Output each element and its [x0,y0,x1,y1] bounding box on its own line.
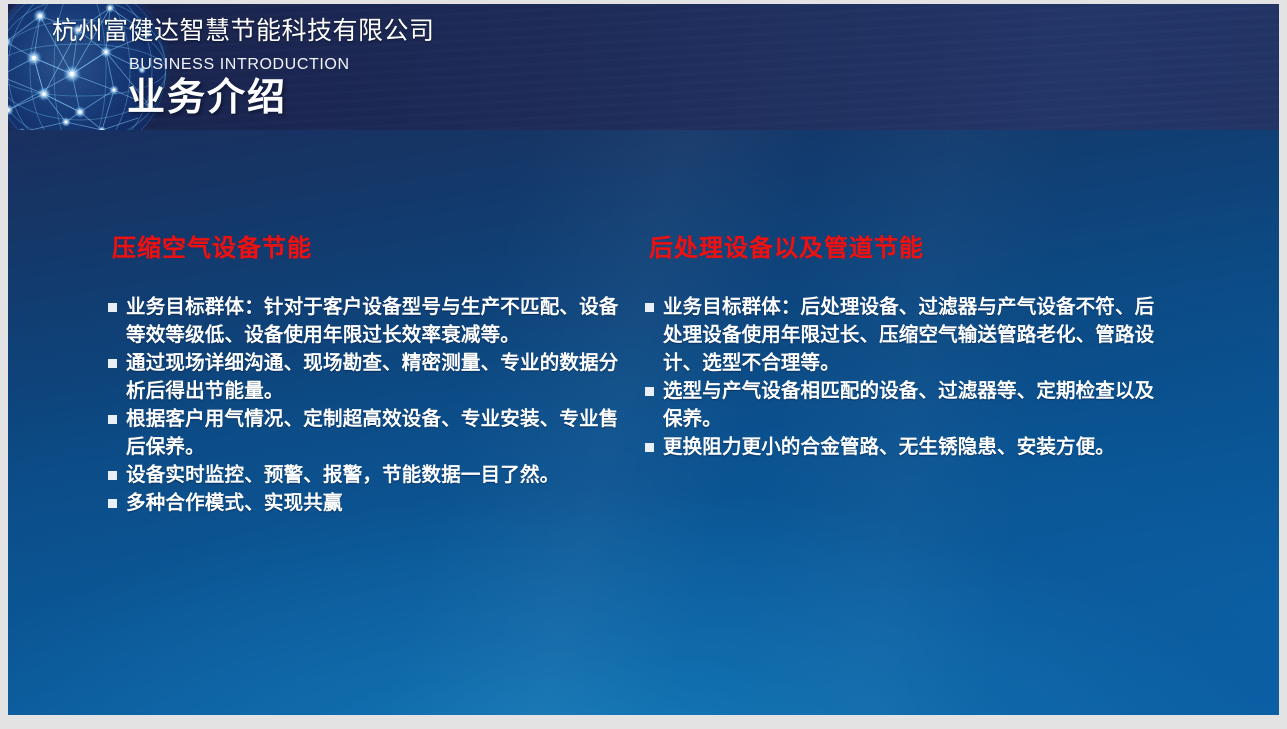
list-item-text: 多种合作模式、实现共赢 [126,489,628,517]
list-item: 根据客户用气情况、定制超高效设备、专业安装、专业售后保养。 [108,405,628,461]
bullet-list-right: 业务目标群体：后处理设备、过滤器与产气设备不符、后处理设备使用年限过长、压缩空气… [645,293,1165,461]
list-item-text: 设备实时监控、预警、报警，节能数据一目了然。 [126,461,628,489]
bullet-square-icon [108,303,117,312]
content-column-left: 压缩空气设备节能 业务目标群体：针对于客户设备型号与生产不匹配、设备等效等级低、… [108,234,628,517]
slide-frame: 杭州富健达智慧节能科技有限公司 BUSINESS INTRODUCTION 业务… [0,0,1287,729]
list-item-text: 更换阻力更小的合金管路、无生锈隐患、安装方便。 [663,433,1165,461]
list-item-text: 业务目标群体：针对于客户设备型号与生产不匹配、设备等效等级低、设备使用年限过长效… [126,293,628,349]
list-item: 更换阻力更小的合金管路、无生锈隐患、安装方便。 [645,433,1165,461]
content-column-right: 后处理设备以及管道节能 业务目标群体：后处理设备、过滤器与产气设备不符、后处理设… [645,234,1165,461]
header-band: 杭州富健达智慧节能科技有限公司 BUSINESS INTRODUCTION 业务… [8,4,1279,130]
list-item: 业务目标群体：后处理设备、过滤器与产气设备不符、后处理设备使用年限过长、压缩空气… [645,293,1165,377]
bullet-square-icon [645,303,654,312]
bullet-square-icon [108,359,117,368]
list-item-text: 根据客户用气情况、定制超高效设备、专业安装、专业售后保养。 [126,405,628,461]
list-item: 业务目标群体：针对于客户设备型号与生产不匹配、设备等效等级低、设备使用年限过长效… [108,293,628,349]
list-item-text: 通过现场详细沟通、现场勘查、精密测量、专业的数据分析后得出节能量。 [126,349,628,405]
bullet-square-icon [645,387,654,396]
list-item: 选型与产气设备相匹配的设备、过滤器等、定期检查以及保养。 [645,377,1165,433]
bullet-list-left: 业务目标群体：针对于客户设备型号与生产不匹配、设备等效等级低、设备使用年限过长效… [108,293,628,517]
slide-canvas: 杭州富健达智慧节能科技有限公司 BUSINESS INTRODUCTION 业务… [8,4,1279,715]
bullet-square-icon [108,415,117,424]
list-item: 设备实时监控、预警、报警，节能数据一目了然。 [108,461,628,489]
section-title-cn: 业务介绍 [127,74,287,122]
bullet-square-icon [108,471,117,480]
list-item: 多种合作模式、实现共赢 [108,489,628,517]
bullet-square-icon [108,499,117,508]
company-name: 杭州富健达智慧节能科技有限公司 [52,15,435,47]
column-heading-right: 后处理设备以及管道节能 [649,234,1165,264]
section-subtitle-en: BUSINESS INTRODUCTION [129,55,350,75]
list-item: 通过现场详细沟通、现场勘查、精密测量、专业的数据分析后得出节能量。 [108,349,628,405]
content-area: 压缩空气设备节能 业务目标群体：针对于客户设备型号与生产不匹配、设备等效等级低、… [8,130,1279,715]
list-item-text: 业务目标群体：后处理设备、过滤器与产气设备不符、后处理设备使用年限过长、压缩空气… [663,293,1165,377]
list-item-text: 选型与产气设备相匹配的设备、过滤器等、定期检查以及保养。 [663,377,1165,433]
bullet-square-icon [645,443,654,452]
column-heading-left: 压缩空气设备节能 [112,234,628,264]
